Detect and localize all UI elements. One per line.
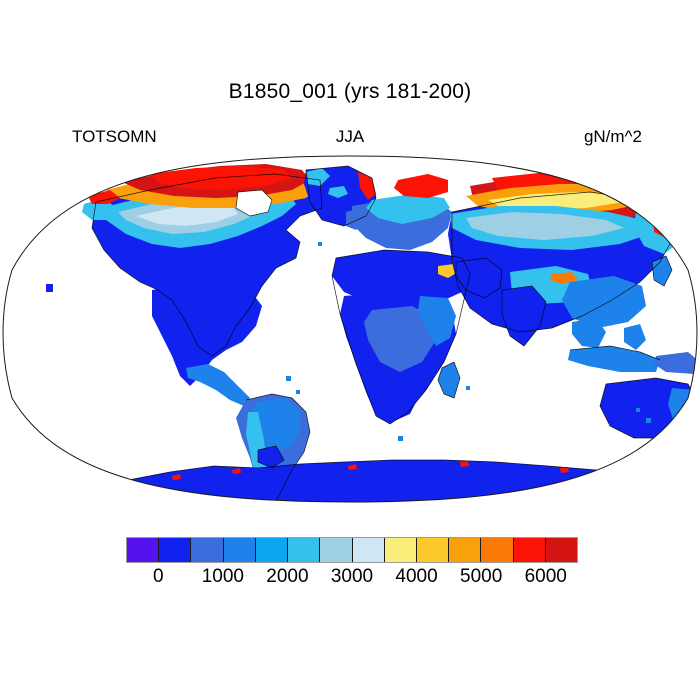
colorbar-cell-5 xyxy=(288,538,320,562)
region-new-zealand xyxy=(692,422,700,446)
colorbar-tick-2000: 2000 xyxy=(266,566,308,588)
colorbar-cell-7 xyxy=(353,538,385,562)
colorbar-cell-4 xyxy=(256,538,288,562)
colorbar-tick-5000: 5000 xyxy=(460,566,502,588)
map-panel xyxy=(0,150,700,520)
colorbar-cell-9 xyxy=(417,538,449,562)
colorbar-tick-0: 0 xyxy=(153,566,164,588)
colorbar-cell-0 xyxy=(127,538,159,562)
colorbar-cell-6 xyxy=(320,538,352,562)
colorbar-cell-11 xyxy=(481,538,513,562)
colorbar-cell-12 xyxy=(514,538,546,562)
colorbar[interactable] xyxy=(126,537,578,563)
colorbar-tick-4000: 4000 xyxy=(395,566,437,588)
colorbar-tick-6000: 6000 xyxy=(525,566,567,588)
region-hawaii xyxy=(46,284,53,292)
units-label: gN/m^2 xyxy=(584,127,642,147)
colorbar-cell-10 xyxy=(449,538,481,562)
figure-canvas: B1850_001 (yrs 181-200) TOTSOMN JJA gN/m… xyxy=(0,0,700,700)
region-tasmania xyxy=(668,440,682,450)
colorbar-tick-labels: 0100020003000400050006000 xyxy=(126,566,578,592)
colorbar-cell-13 xyxy=(546,538,577,562)
colorbar-cell-1 xyxy=(159,538,191,562)
colorbar-cell-3 xyxy=(224,538,256,562)
colorbar-tick-1000: 1000 xyxy=(202,566,244,588)
colorbar-cell-2 xyxy=(191,538,223,562)
page-title: B1850_001 (yrs 181-200) xyxy=(0,80,700,104)
colorbar-cell-8 xyxy=(385,538,417,562)
map-data-layer xyxy=(0,150,700,520)
world-map xyxy=(0,150,700,520)
colorbar-tick-3000: 3000 xyxy=(331,566,373,588)
